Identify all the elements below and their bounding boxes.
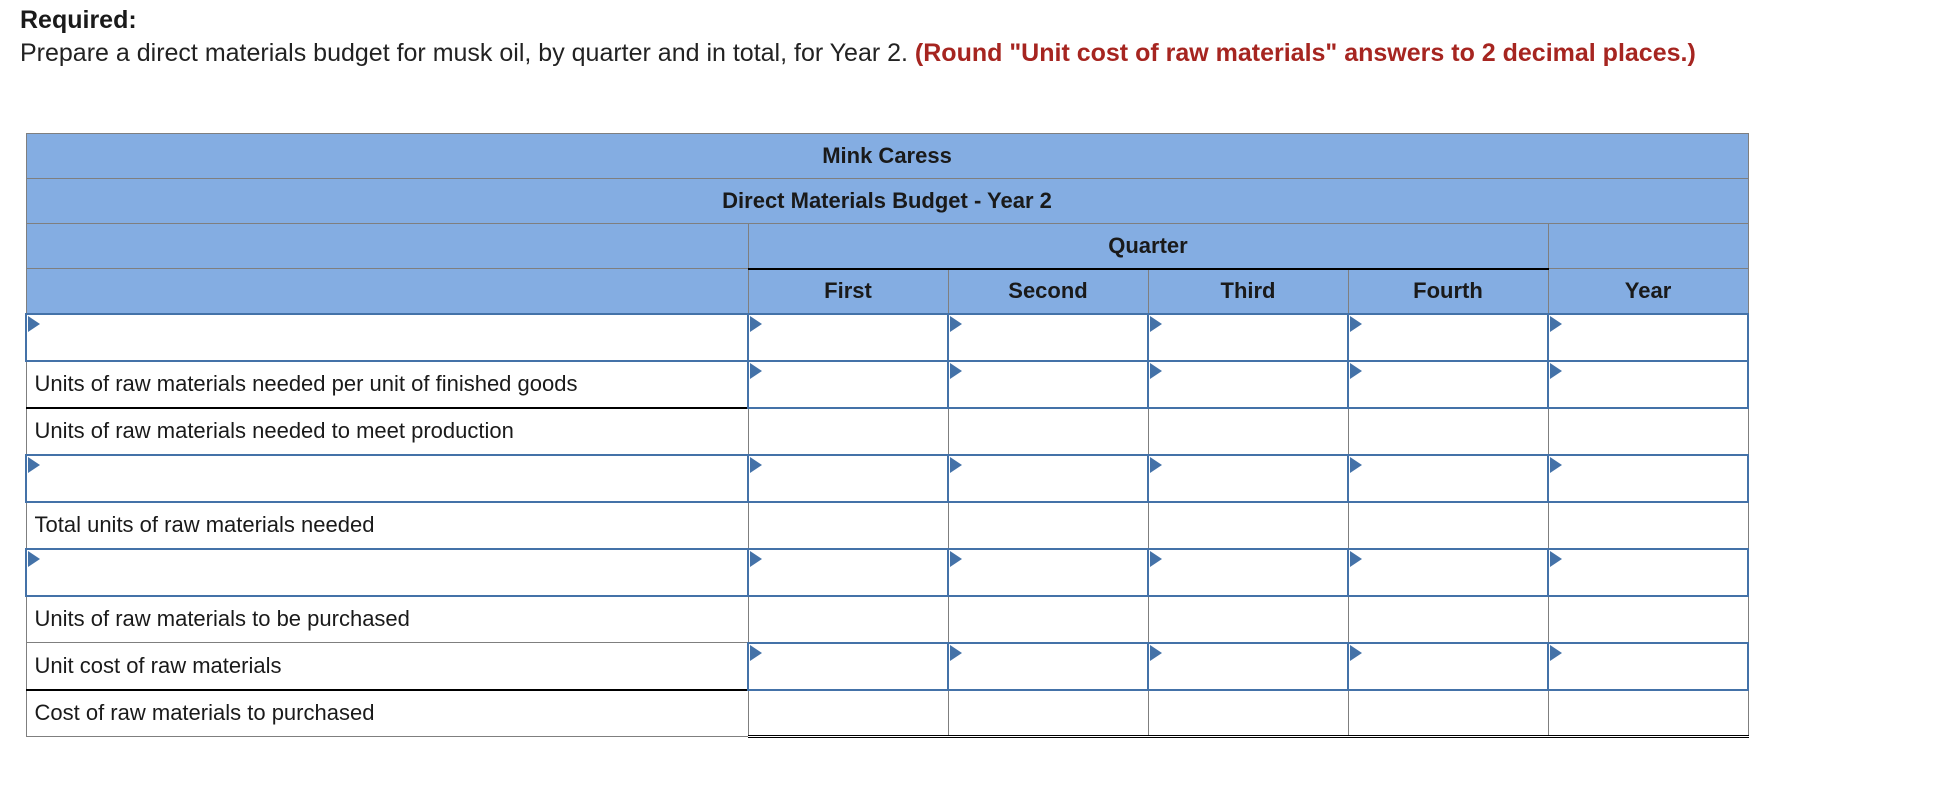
table-row: Units of raw materials needed to meet pr… (26, 408, 1748, 455)
triangle-right-icon (950, 551, 962, 567)
table-row: Units of raw materials to be purchased (26, 596, 1748, 643)
cell-input-value-first (749, 645, 947, 688)
cell-input-third[interactable] (1148, 361, 1348, 408)
cell-input-third[interactable] (1148, 643, 1348, 690)
table-row: Total units of raw materials needed (26, 502, 1748, 549)
cell-value-first (748, 408, 948, 455)
triangle-right-icon (1350, 551, 1362, 567)
cell-value-second (948, 690, 1148, 737)
triangle-right-icon (750, 457, 762, 473)
table-subtitle-row: Direct Materials Budget - Year 2 (26, 179, 1748, 224)
cell-input-value-first (749, 551, 947, 594)
cell-input-value-second (949, 551, 1147, 594)
cell-input-year[interactable] (1548, 643, 1748, 690)
triangle-right-icon (28, 457, 40, 473)
column-header-year: Year (1548, 269, 1748, 314)
cell-input-first[interactable] (748, 314, 948, 361)
triangle-right-icon (1550, 551, 1562, 567)
cell-input-value-year (1549, 316, 1747, 359)
cell-input-value-third (1149, 551, 1347, 594)
required-label: Required: (20, 4, 1920, 37)
cell-value-second (948, 408, 1148, 455)
direct-materials-budget-table: Mink Caress Direct Materials Budget - Ye… (25, 133, 1749, 738)
triangle-right-icon (1150, 363, 1162, 379)
triangle-right-icon (750, 316, 762, 332)
prompt-block: Required: Prepare a direct materials bud… (20, 4, 1920, 69)
cell-value-third (1148, 502, 1348, 549)
instruction-text: Prepare a direct materials budget for mu… (20, 37, 1920, 70)
cell-input-second[interactable] (948, 643, 1148, 690)
cell-value-year (1548, 408, 1748, 455)
budget-table-wrapper: Mink Caress Direct Materials Budget - Ye… (25, 133, 1747, 738)
worksheet-page: Required: Prepare a direct materials bud… (0, 0, 1946, 812)
triangle-right-icon (950, 645, 962, 661)
row-label: Unit cost of raw materials (26, 643, 748, 690)
column-header-row: First Second Third Fourth Year (26, 269, 1748, 314)
cell-input-value-year (1549, 457, 1747, 500)
triangle-right-icon (28, 551, 40, 567)
row-label-dropdown[interactable] (26, 549, 748, 596)
cell-input-value-fourth (1349, 645, 1547, 688)
cell-value-fourth (1348, 596, 1548, 643)
triangle-right-icon (1150, 551, 1162, 567)
cell-input-value-year (1549, 551, 1747, 594)
table-row (26, 549, 1748, 596)
cell-input-fourth[interactable] (1348, 314, 1548, 361)
row-label-dropdown-value (27, 457, 747, 500)
triangle-right-icon (1550, 645, 1562, 661)
cell-input-value-fourth (1349, 457, 1547, 500)
cell-input-first[interactable] (748, 455, 948, 502)
table-row: Unit cost of raw materials (26, 643, 1748, 690)
table-row (26, 455, 1748, 502)
table-row: Cost of raw materials to purchased (26, 690, 1748, 737)
cell-input-value-year (1549, 645, 1747, 688)
cell-input-value-fourth (1349, 363, 1547, 406)
row-label-dropdown-value (27, 316, 747, 359)
column-header-first: First (748, 269, 948, 314)
cell-input-value-second (949, 645, 1147, 688)
instruction-plain: Prepare a direct materials budget for mu… (20, 39, 915, 67)
row-label: Cost of raw materials to purchased (26, 690, 748, 737)
triangle-right-icon (750, 645, 762, 661)
group-header-spacer (26, 224, 748, 269)
row-label: Units of raw materials needed to meet pr… (26, 408, 748, 455)
cell-input-fourth[interactable] (1348, 361, 1548, 408)
triangle-right-icon (1550, 316, 1562, 332)
column-header-third: Third (1148, 269, 1348, 314)
cell-value-year (1548, 690, 1748, 737)
cell-input-value-fourth (1349, 551, 1547, 594)
quarter-group-header: Quarter (748, 224, 1548, 269)
cell-input-fourth[interactable] (1348, 643, 1548, 690)
triangle-right-icon (1350, 316, 1362, 332)
table-title-row: Mink Caress (26, 134, 1748, 179)
cell-value-fourth (1348, 408, 1548, 455)
cell-input-value-third (1149, 457, 1347, 500)
cell-input-second[interactable] (948, 314, 1148, 361)
group-header-row: Quarter (26, 224, 1748, 269)
cell-input-third[interactable] (1148, 314, 1348, 361)
triangle-right-icon (1350, 363, 1362, 379)
cell-input-value-second (949, 363, 1147, 406)
row-label: Total units of raw materials needed (26, 502, 748, 549)
cell-input-value-fourth (1349, 316, 1547, 359)
cell-input-third[interactable] (1148, 549, 1348, 596)
cell-value-third (1148, 690, 1348, 737)
triangle-right-icon (950, 457, 962, 473)
column-header-fourth: Fourth (1348, 269, 1548, 314)
triangle-right-icon (1150, 645, 1162, 661)
cell-input-year[interactable] (1548, 455, 1748, 502)
cell-input-value-first (749, 363, 947, 406)
cell-input-value-second (949, 316, 1147, 359)
cell-input-fourth[interactable] (1348, 455, 1548, 502)
cell-input-second[interactable] (948, 549, 1148, 596)
cell-value-second (948, 596, 1148, 643)
cell-input-first[interactable] (748, 549, 948, 596)
cell-value-year (1548, 502, 1748, 549)
statement-name: Direct Materials Budget - Year 2 (26, 179, 1748, 224)
cell-input-year[interactable] (1548, 549, 1748, 596)
triangle-right-icon (1350, 645, 1362, 661)
triangle-right-icon (1150, 316, 1162, 332)
triangle-right-icon (950, 316, 962, 332)
triangle-right-icon (28, 316, 40, 332)
cell-input-value-first (749, 316, 947, 359)
row-label: Units of raw materials to be purchased (26, 596, 748, 643)
cell-value-second (948, 502, 1148, 549)
cell-input-value-third (1149, 645, 1347, 688)
cell-value-fourth (1348, 690, 1548, 737)
table-row (26, 314, 1748, 361)
cell-value-first (748, 690, 948, 737)
cell-input-value-third (1149, 363, 1347, 406)
cell-value-year (1548, 596, 1748, 643)
triangle-right-icon (1550, 457, 1562, 473)
cell-input-year[interactable] (1548, 314, 1748, 361)
cell-input-fourth[interactable] (1348, 549, 1548, 596)
cell-value-first (748, 502, 948, 549)
cell-input-value-first (749, 457, 947, 500)
cell-input-first[interactable] (748, 643, 948, 690)
triangle-right-icon (750, 551, 762, 567)
cell-input-third[interactable] (1148, 455, 1348, 502)
cell-input-year[interactable] (1548, 361, 1748, 408)
cell-value-third (1148, 408, 1348, 455)
row-label: Units of raw materials needed per unit o… (26, 361, 748, 408)
company-name: Mink Caress (26, 134, 1748, 179)
cell-input-second[interactable] (948, 361, 1148, 408)
group-header-year-spacer (1548, 224, 1748, 269)
triangle-right-icon (1350, 457, 1362, 473)
triangle-right-icon (750, 363, 762, 379)
triangle-right-icon (1150, 457, 1162, 473)
cell-input-value-third (1149, 316, 1347, 359)
row-label-dropdown[interactable] (26, 455, 748, 502)
cell-input-second[interactable] (948, 455, 1148, 502)
triangle-right-icon (950, 363, 962, 379)
cell-input-value-second (949, 457, 1147, 500)
cell-value-fourth (1348, 502, 1548, 549)
cell-value-first (748, 596, 948, 643)
table-row: Units of raw materials needed per unit o… (26, 361, 1748, 408)
column-header-second: Second (948, 269, 1148, 314)
cell-value-third (1148, 596, 1348, 643)
rounding-note: (Round "Unit cost of raw materials" answ… (915, 39, 1696, 67)
cell-input-first[interactable] (748, 361, 948, 408)
cell-input-value-year (1549, 363, 1747, 406)
row-label-dropdown-value (27, 551, 747, 594)
triangle-right-icon (1550, 363, 1562, 379)
row-label-dropdown[interactable] (26, 314, 748, 361)
column-header-spacer (26, 269, 748, 314)
